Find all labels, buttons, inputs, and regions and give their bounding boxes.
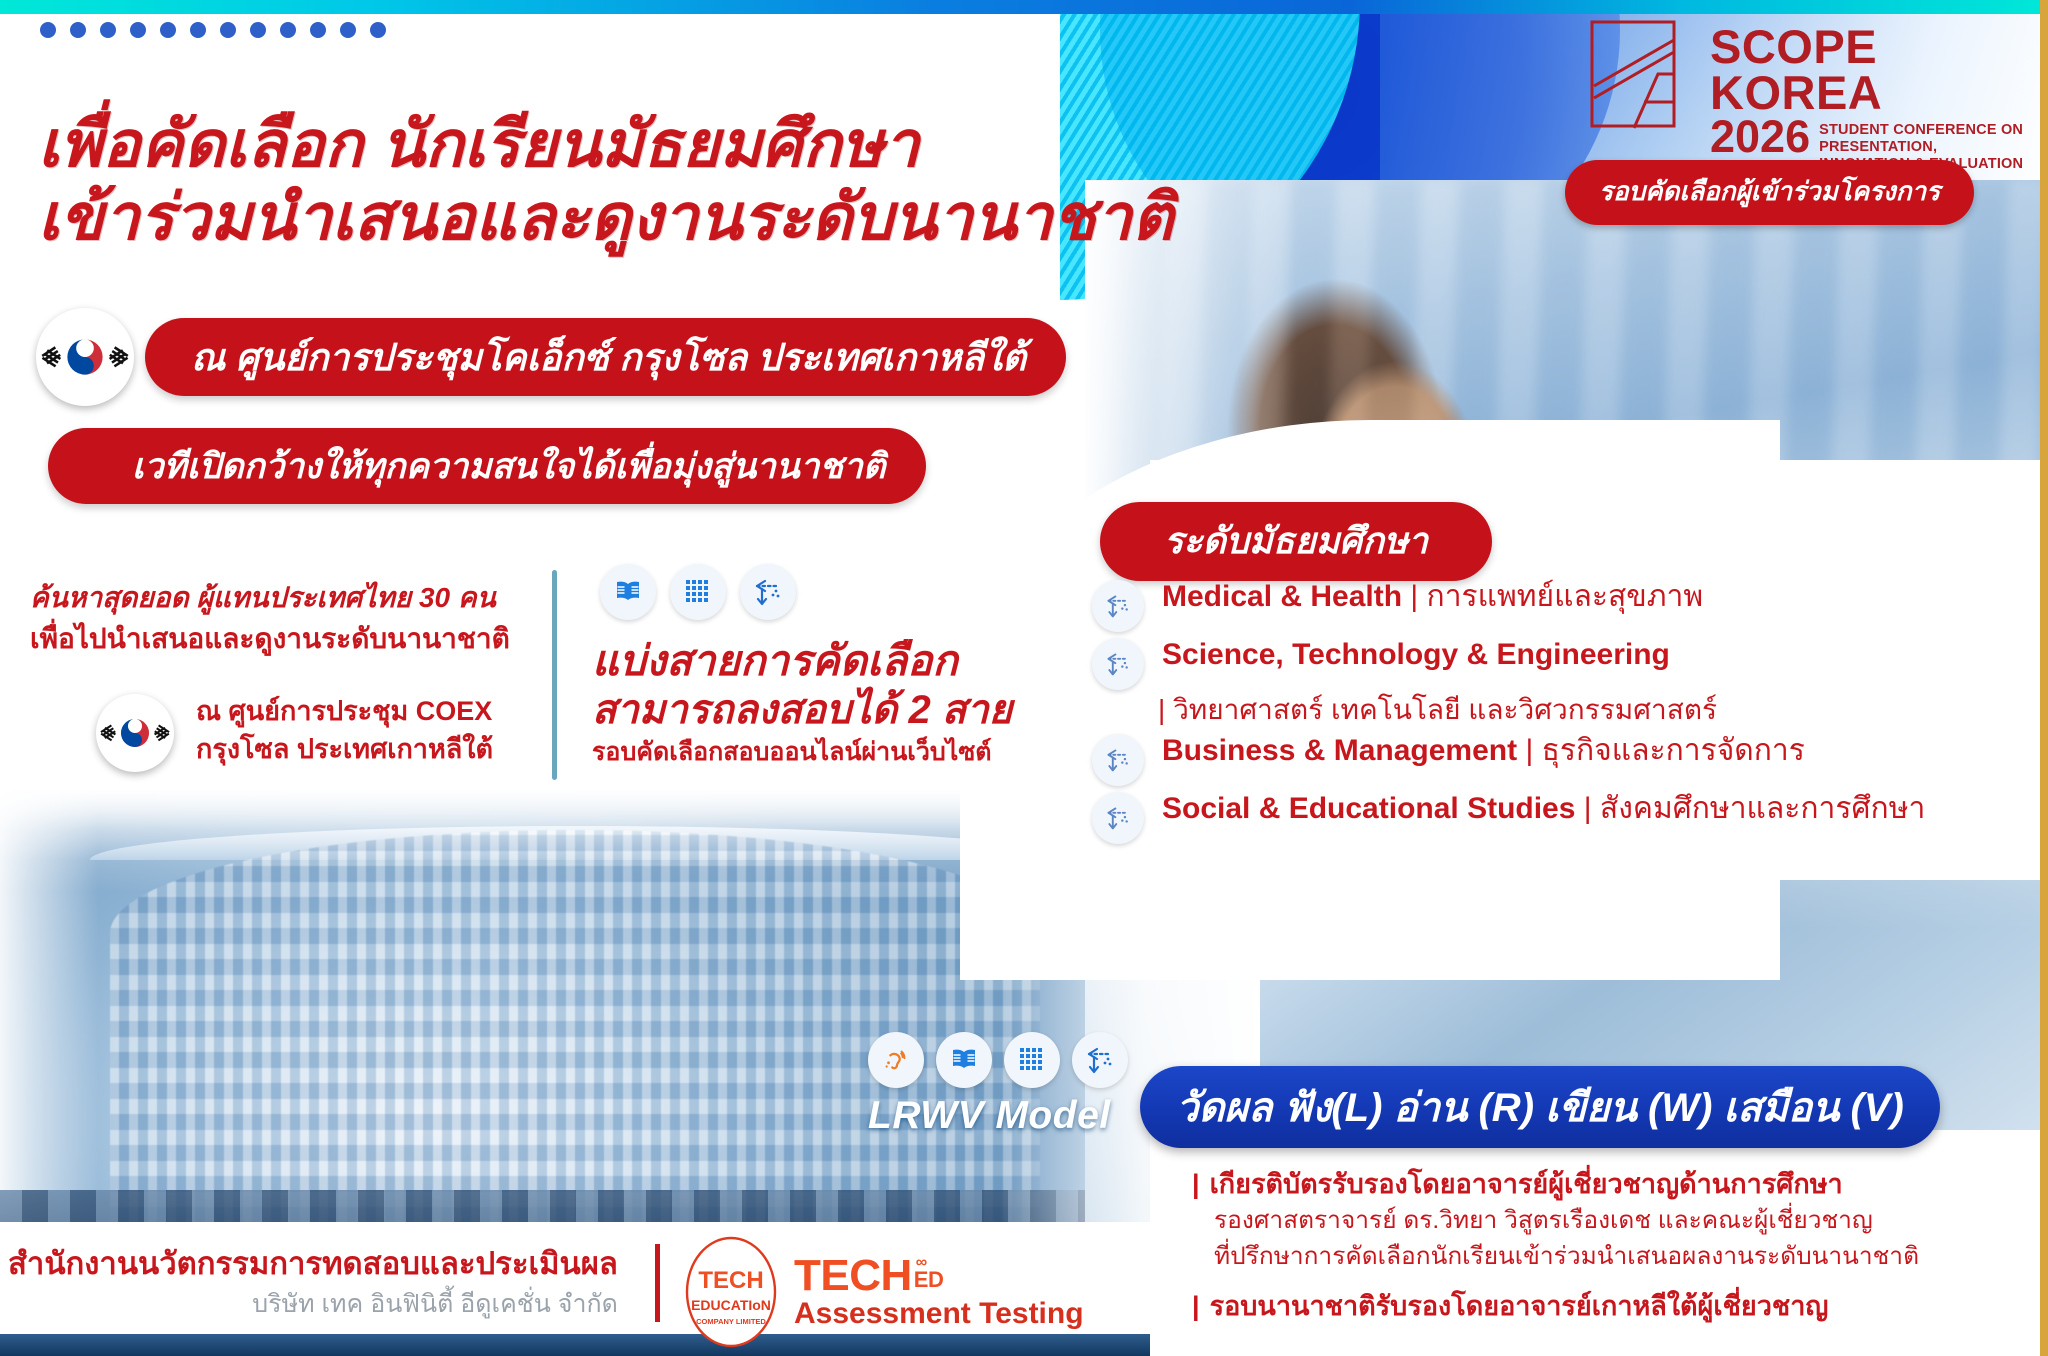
mid-icon-row (600, 564, 796, 620)
lrwv-icon-row (868, 1032, 1128, 1088)
track-en-label: Social & Educational Studies (1162, 792, 1575, 825)
footer-company-name: บริษัท เทค อินฟินิตี้ อีดูเคชั่น จำกัด (8, 1288, 618, 1321)
track-separator: | (1158, 694, 1165, 725)
scope-korea-logo: SCOPE KOREA 2026 STUDENT CONFERENCE ON P… (1588, 18, 2048, 173)
teched-logo: TECH EDUCATIoN COMPANY LIMITED TECH ∞ ED… (682, 1236, 1084, 1348)
top-gradient-strip (0, 0, 2048, 14)
open-book-icon (936, 1032, 992, 1088)
svg-text:COMPANY LIMITED: COMPANY LIMITED (696, 1317, 766, 1326)
tracks-list: Medical & Health | การแพทย์และสุขภาพ Sci… (1092, 578, 1925, 848)
credential-heading-2: | รอบนานาชาติรับรองโดยอาจารย์เกาหลีใต้ผู… (1192, 1287, 1919, 1325)
korea-flag-icon-large (36, 308, 134, 406)
track-en-label: Science, Technology & Engineering (1162, 638, 1670, 671)
teched-tagline: Assessment Testing (794, 1298, 1084, 1330)
scope-logo-mark-icon (1588, 18, 1696, 130)
coex-line-1: ณ ศูนย์การประชุม COEX (196, 692, 493, 730)
vertical-divider (552, 570, 557, 780)
track-th-label: การแพทย์และสุขภาพ (1427, 580, 1704, 613)
transform-arrows-icon (1092, 792, 1144, 844)
credential-sub-1: รองศาสตราจารย์ ดร.วิทยา วิสูตรเรืองเดช แ… (1192, 1203, 1919, 1239)
mid-text-block: แบ่งสายการคัดเลือก สามารถลงสอบได้ 2 สาย … (592, 636, 1012, 770)
lrwv-model-block: LRWV Model (868, 1032, 1128, 1138)
svg-text:EDUCATIoN: EDUCATIoN (691, 1297, 771, 1313)
credential-sub-2: ที่ปรึกษาการคัดเลือกนักเรียนเข้าร่วมนำเส… (1192, 1239, 1919, 1275)
credential-bar: | (1192, 1165, 1200, 1203)
page-headline: เพื่อคัดเลือก นักเรียนมัธยมศึกษา เข้าร่ว… (38, 108, 1173, 254)
transform-arrows-icon (740, 564, 796, 620)
assessment-blue-pill: วัดผล ฟัง(L) อ่าน (R) เขียน (W) เสมือน (… (1140, 1066, 1940, 1148)
teched-seal-icon: TECH EDUCATIoN COMPANY LIMITED (682, 1236, 780, 1348)
transform-arrows-icon (1092, 580, 1144, 632)
mid-line-1: แบ่งสายการคัดเลือก (592, 636, 1012, 686)
track-separator: | (1410, 580, 1418, 613)
credential-bar: | (1192, 1287, 1200, 1325)
hearing-icon (868, 1032, 924, 1088)
transform-arrows-icon (1072, 1032, 1128, 1088)
tracks-heading: ระดับมัธยมศึกษา (1100, 502, 1492, 581)
logo-subtitle-line1: STUDENT CONFERENCE ON PRESENTATION, (1819, 122, 2048, 156)
credential-heading-2-text: รอบนานาชาติรับรองโดยอาจารย์เกาหลีใต้ผู้เ… (1210, 1287, 1829, 1325)
teched-brand-ed: ED (914, 1271, 944, 1289)
credentials-block: | เกียรติบัตรรับรองโดยอาจารย์ผู้เชี่ยวชา… (1192, 1165, 1919, 1325)
logo-year: 2026 (1710, 116, 1810, 159)
stat-line-2: เพื่อไปนำเสนอและดูงานระดับนานาชาติ (30, 619, 510, 660)
list-item: Business & Management | ธุรกิจและการจัดก… (1092, 732, 1925, 786)
footer-office-block: สำนักงานนวัตกรรมการทดสอบและประเมินผล บริ… (8, 1245, 618, 1321)
headline-line-1: เพื่อคัดเลือก นักเรียนมัธยมศึกษา (38, 108, 1173, 181)
list-item: Science, Technology & Engineering (1092, 636, 1925, 690)
transform-arrows-icon (1092, 638, 1144, 690)
track-th-label: วิทยาศาสตร์ เทคโนโลยี และวิศวกรรมศาสตร์ (1173, 694, 1717, 725)
list-item: Social & Educational Studies | สังคมศึกษ… (1092, 790, 1925, 844)
transform-arrows-icon (1092, 734, 1144, 786)
track-th-label: ธุรกิจและการจัดการ (1542, 734, 1805, 767)
track-th-label: สังคมศึกษาและการศึกษา (1600, 792, 1925, 825)
track-separator: | (1584, 792, 1592, 825)
coex-line-2: กรุงโซล ประเทศเกาหลีใต้ (196, 730, 493, 768)
logo-title: SCOPE KOREA (1710, 24, 2048, 116)
track-en-label: Medical & Health (1162, 580, 1402, 613)
credential-heading-1: | เกียรติบัตรรับรองโดยอาจารย์ผู้เชี่ยวชา… (1192, 1165, 1919, 1203)
lrwv-model-label: LRWV Model (868, 1094, 1128, 1138)
track-separator: | (1525, 734, 1533, 767)
mid-line-3: รอบคัดเลือกสอบออนไลน์ผ่านเว็บไซต์ (592, 736, 1012, 770)
stat-line-1: ค้นหาสุดยอด ผู้แทนประเทศไทย 30 คน (30, 578, 510, 619)
right-edge-accent (2040, 0, 2048, 1356)
grid-dots-icon (670, 564, 726, 620)
track-en-label: Business & Management (1162, 734, 1517, 767)
teched-brand-tech: TECH (794, 1255, 912, 1297)
grid-dots-icon (1004, 1032, 1060, 1088)
credential-heading-1-text: เกียรติบัตรรับรองโดยอาจารย์ผู้เชี่ยวชาญด… (1210, 1165, 1843, 1203)
decorative-dot-grid (40, 22, 400, 50)
open-book-icon (600, 564, 656, 620)
track-th-sub: | วิทยาศาสตร์ เทคโนโลยี และวิศวกรรมศาสตร… (1092, 692, 1925, 728)
svg-text:TECH: TECH (698, 1267, 763, 1294)
list-item: Medical & Health | การแพทย์และสุขภาพ (1092, 578, 1925, 632)
coex-location-text: ณ ศูนย์การประชุม COEX กรุงโซล ประเทศเกาห… (196, 692, 493, 769)
left-stat-block: ค้นหาสุดยอด ผู้แทนประเทศไทย 30 คน เพื่อไ… (30, 578, 510, 659)
korea-flag-icon-small (96, 694, 174, 772)
poster-canvas: SCOPE KOREA 2026 STUDENT CONFERENCE ON P… (0, 0, 2048, 1356)
stage-pill: เวทีเปิดกว้างให้ทุกความสนใจได้เพื่อมุ่งส… (48, 428, 926, 504)
mid-line-2: สามารถลงสอบได้ 2 สาย (592, 686, 1012, 734)
headline-line-2: เข้าร่วมนำเสนอและดูงานระดับนานาชาติ (38, 181, 1173, 254)
venue-pill: ณ ศูนย์การประชุมโคเอ็กซ์ กรุงโซล ประเทศเ… (145, 318, 1066, 396)
footer-office-name: สำนักงานนวัตกรรมการทดสอบและประเมินผล (8, 1245, 618, 1282)
selection-round-badge: รอบคัดเลือกผู้เข้าร่วมโครงการ (1565, 160, 1974, 225)
footer-divider (655, 1244, 660, 1322)
